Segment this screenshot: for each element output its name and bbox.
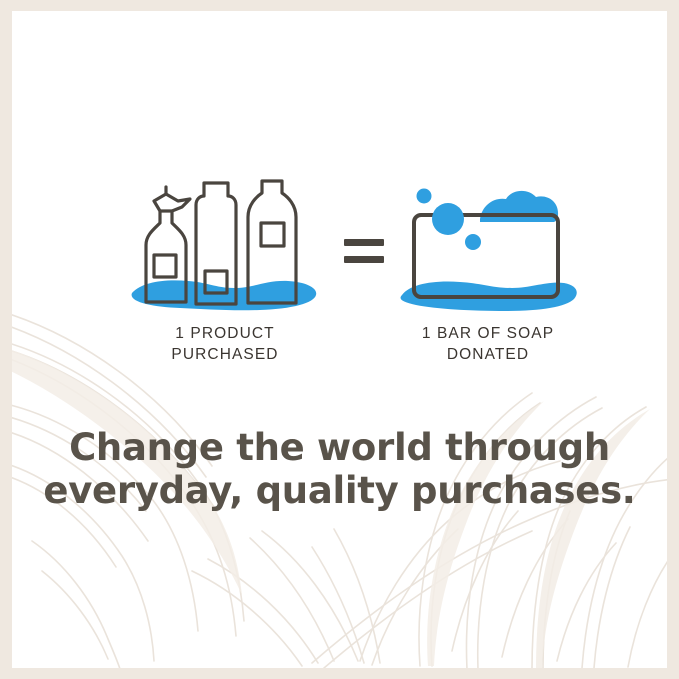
caption-line-1: 1 PRODUCT <box>104 323 346 344</box>
bubble-small-mid <box>465 234 481 250</box>
water-puddle-shape <box>132 280 317 310</box>
caption-line-1: 1 BAR OF SOAP <box>384 323 592 344</box>
equals-sign <box>342 231 386 271</box>
poster-canvas: 1 PRODUCT PURCHASED 1 BAR OF SOAP DONATE… <box>12 11 667 668</box>
equation-row <box>12 171 667 321</box>
caption-soap-donated: 1 BAR OF SOAP DONATED <box>384 323 592 365</box>
bubble-large <box>432 203 464 235</box>
caption-line-2: PURCHASED <box>104 344 346 365</box>
caption-product-purchased: 1 PRODUCT PURCHASED <box>104 323 346 365</box>
soap-bar-icon <box>394 171 579 321</box>
headline-line-2: everyday, quality purchases. <box>12 469 667 512</box>
headline-line-1: Change the world through <box>12 426 667 469</box>
headline: Change the world through everyday, quali… <box>12 426 667 512</box>
bubble-small-top <box>417 189 432 204</box>
product-bottles-icon <box>120 171 330 321</box>
promo-poster: 1 PRODUCT PURCHASED 1 BAR OF SOAP DONATE… <box>0 0 679 679</box>
caption-line-2: DONATED <box>384 344 592 365</box>
